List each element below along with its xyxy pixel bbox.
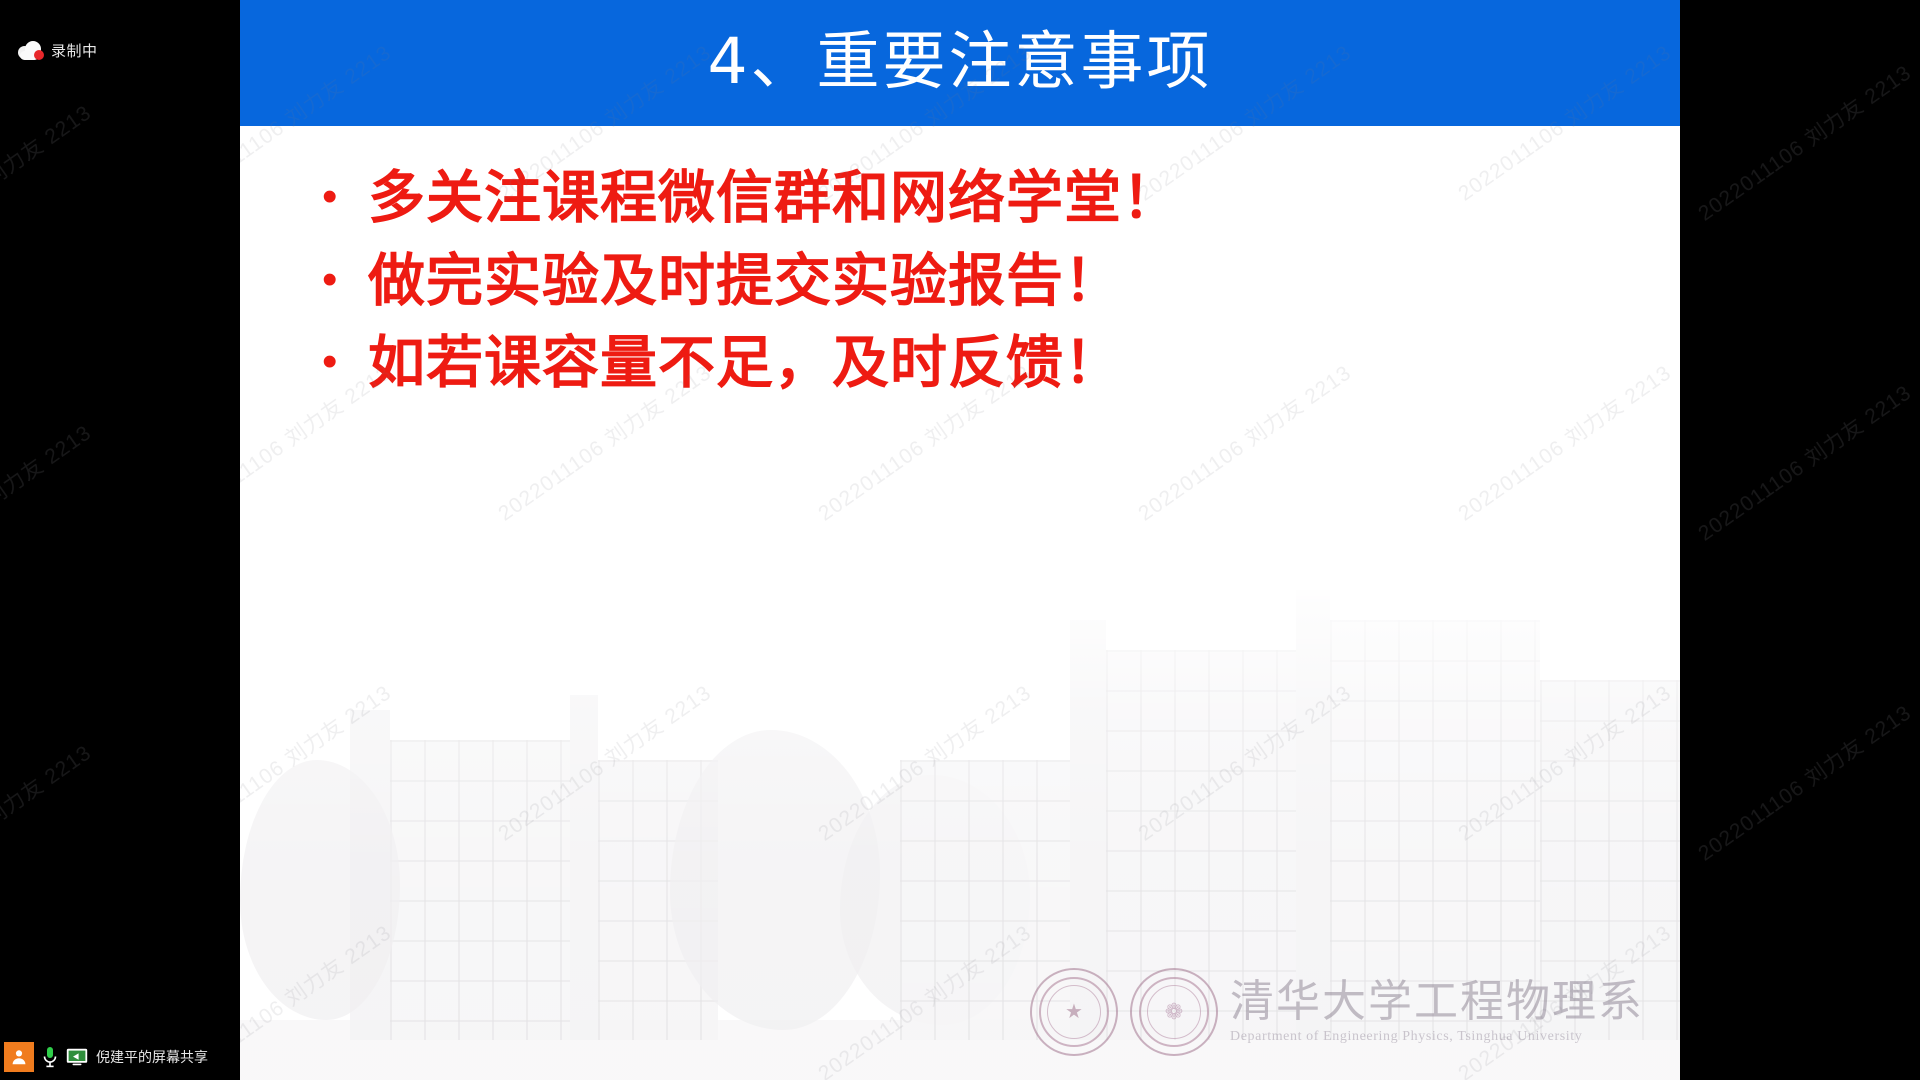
tsinghua-university-seal-icon: ★ bbox=[1030, 968, 1118, 1056]
watermark-text: 2022011106 刘力友 2213 bbox=[1691, 57, 1916, 227]
shared-slide: 4、重要注意事项 bbox=[240, 0, 1680, 1080]
watermark-text: 2022011106 刘力友 2213 bbox=[1691, 697, 1916, 867]
bullet-text: 做完实验及时提交实验报告！ bbox=[368, 247, 1122, 317]
list-item: • 如若课容量不足，及时反馈！ bbox=[322, 329, 1680, 399]
slide-bullet-list: • 多关注课程微信群和网络学堂！ • 做完实验及时提交实验报告！ • 如若课容量… bbox=[240, 126, 1680, 412]
screen-share-icon[interactable] bbox=[66, 1048, 88, 1066]
watermark-text: 2022011106 刘力友 2213 bbox=[0, 737, 97, 907]
bullet-marker-icon: • bbox=[322, 175, 368, 219]
cloud-record-icon bbox=[18, 42, 44, 60]
watermark-text: 2022011106 刘力友 2213 bbox=[0, 97, 97, 267]
recording-label: 录制中 bbox=[51, 44, 98, 59]
microphone-icon[interactable] bbox=[42, 1046, 58, 1068]
watermark-text: 2022011106 刘力友 2213 bbox=[1691, 377, 1916, 547]
department-lotus-seal-icon: ❁ bbox=[1130, 968, 1218, 1056]
screen-share-label: 倪建平的屏幕共享 bbox=[96, 1050, 208, 1064]
bullet-marker-icon: • bbox=[322, 258, 368, 302]
department-logo: ★ ❁ 清华大学工程物理系 Department of Engineering … bbox=[1030, 968, 1644, 1056]
participant-avatar-icon[interactable] bbox=[4, 1042, 34, 1072]
list-item: • 做完实验及时提交实验报告！ bbox=[322, 247, 1680, 317]
list-item: • 多关注课程微信群和网络学堂！ bbox=[322, 164, 1680, 234]
bullet-text: 如若课容量不足，及时反馈！ bbox=[368, 329, 1122, 399]
watermark-text: 2022011106 刘力友 2213 bbox=[0, 417, 97, 587]
bullet-text: 多关注课程微信群和网络学堂！ bbox=[368, 164, 1180, 234]
bullet-marker-icon: • bbox=[322, 340, 368, 384]
slide-title-banner: 4、重要注意事项 bbox=[240, 0, 1680, 126]
department-name-en: Department of Engineering Physics, Tsing… bbox=[1230, 1029, 1582, 1045]
screen-share-viewer: 录制中 2022011106 刘力友 2213 2022011106 刘力友 2… bbox=[0, 0, 1920, 1080]
slide-title: 4、重要注意事项 bbox=[707, 30, 1212, 93]
recording-indicator: 录制中 bbox=[18, 42, 98, 60]
department-name-cn: 清华大学工程物理系 bbox=[1230, 979, 1644, 1025]
meeting-status-bar: 倪建平的屏幕共享 bbox=[0, 1034, 240, 1080]
